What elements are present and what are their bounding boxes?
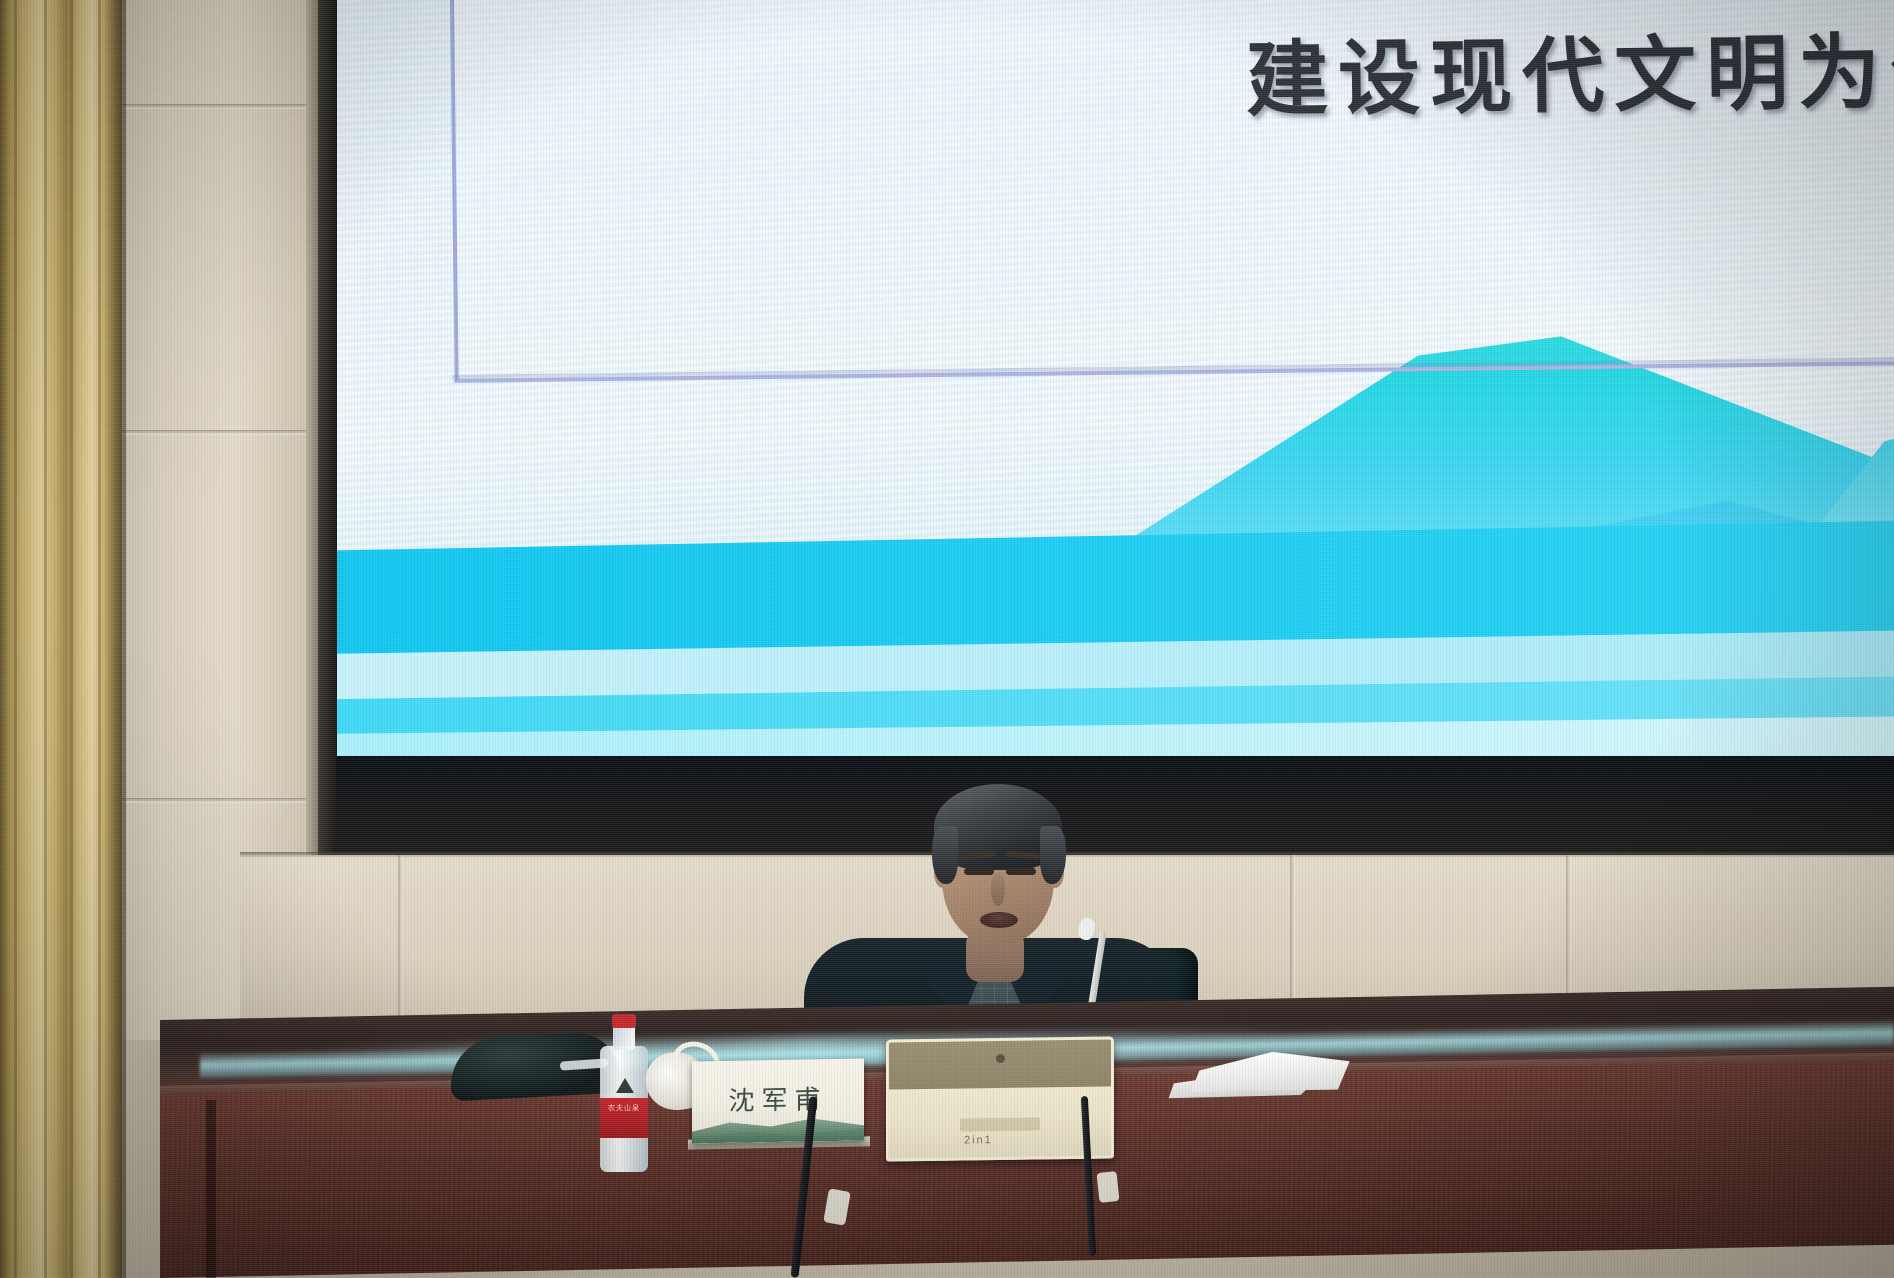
- bottle-cap: [612, 1014, 636, 1028]
- table-leg-seam: [206, 1100, 216, 1278]
- tablet-camera-icon: [996, 1054, 1005, 1063]
- curtain-fold: [14, 0, 17, 1278]
- lower-wall-seam: [398, 855, 403, 1030]
- nameplate-wave-dark: [692, 1114, 864, 1143]
- wall-panel-seam: [118, 104, 318, 109]
- nameplate: 沈军甫: [692, 1058, 864, 1143]
- speaker-hair-side-right: [1040, 826, 1066, 884]
- bottle-label-text: 农夫山泉: [603, 1104, 645, 1113]
- speaker-eye-right: [1006, 868, 1036, 875]
- cable-plug-right: [1096, 1171, 1119, 1203]
- projected-slide: 建设现代文明为何: [336, 0, 1894, 760]
- speaker-mouth: [980, 912, 1018, 928]
- wall-panel-seam: [118, 430, 318, 435]
- wall-panel-seam: [118, 798, 318, 803]
- speaker-nose: [991, 874, 1005, 906]
- speaker-eye-left: [964, 868, 994, 875]
- curtain-fold: [98, 0, 101, 1278]
- tablet-badge: [960, 1117, 1040, 1131]
- curtain-fold: [44, 0, 47, 1278]
- nameplate-name-text: 沈军甫: [692, 1078, 864, 1118]
- tablet-laptop[interactable]: 2in1: [886, 1036, 1114, 1161]
- curtain-shadow: [104, 0, 126, 1278]
- speaker-hair-side-left: [932, 826, 958, 884]
- curtain-fold: [70, 0, 73, 1278]
- slide-title: 建设现代文明为何: [1245, 0, 1894, 132]
- conference-room-photo: 建设现代文明为何: [0, 0, 1894, 1278]
- tablet-logo-text: 2in1: [964, 1134, 993, 1146]
- water-bottle: 农夫山泉: [600, 1022, 648, 1172]
- bottle-mountain-logo-icon: [616, 1078, 634, 1093]
